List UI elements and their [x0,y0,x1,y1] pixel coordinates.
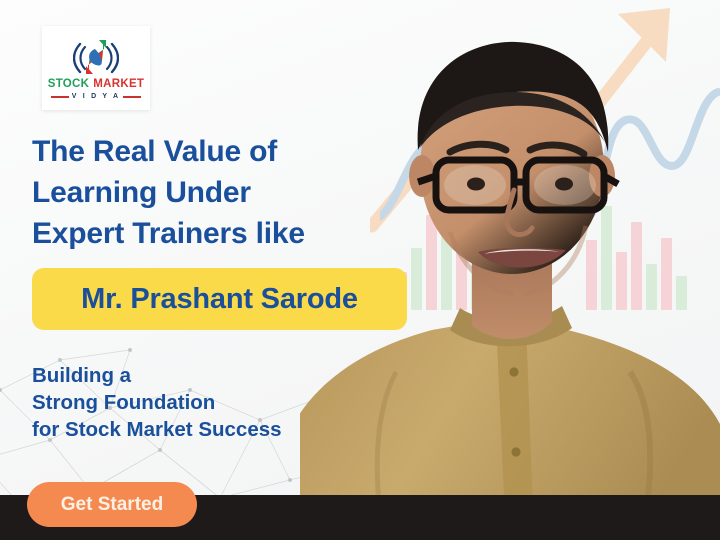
headline-line-2: Learning Under [32,172,424,213]
subheadline-line-1: Building a [32,362,392,389]
logo-text-stock: STOCK [48,79,90,91]
brand-logo[interactable]: STOCK MARKET V I D Y A [42,26,150,110]
subheadline-line-3: for Stock Market Success [32,416,392,443]
logo-text-market: MARKET [93,79,144,91]
promo-banner: STOCK MARKET V I D Y A The Real Value of… [0,0,720,540]
logo-text-vidya: V I D Y A [72,93,120,100]
content-column: STOCK MARKET V I D Y A The Real Value of… [0,0,430,540]
trainer-name-badge: Mr. Prashant Sarode [32,268,407,330]
headline-line-3: Expert Trainers like [32,213,424,254]
get-started-button[interactable]: Get Started [27,482,197,527]
logo-rule-left [51,96,69,98]
logo-rule-right [123,96,141,98]
headline-line-1: The Real Value of [32,131,424,172]
stock-market-vidya-logo-icon [73,36,119,78]
headline: The Real Value of Learning Under Expert … [32,131,424,254]
trainer-name-text: Mr. Prashant Sarode [81,283,358,316]
logo-vidya-row: V I D Y A [51,93,141,100]
subheadline-line-2: Strong Foundation [32,389,392,416]
subheadline: Building a Strong Foundation for Stock M… [32,362,392,443]
